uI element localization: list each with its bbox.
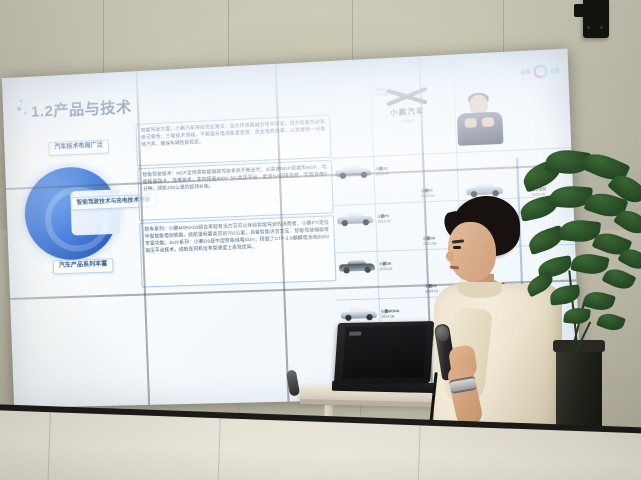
- car-label: 小鹏P52021.09: [377, 214, 390, 225]
- ceiling-speaker-icon: [583, 0, 609, 38]
- plant-leaf: [563, 307, 591, 326]
- thinkpad-laptop[interactable]: [332, 322, 442, 394]
- brand-subtitle: XPENG: [376, 118, 440, 125]
- car-label: 小鹏MONA2024.08: [381, 309, 400, 320]
- car-thumbnail: [339, 259, 375, 274]
- slide-text-block-product-series: 轿车系列：小鹏MONA03迎合年轻有活力又可以体验智能驾驶的消费者，小鹏P7i定…: [139, 215, 336, 287]
- plant-leaf: [602, 264, 637, 293]
- founder-caption-line1: 创始人: [377, 87, 389, 92]
- car-thumbnail: [337, 212, 373, 227]
- slide-title: 1.2产品与技术: [31, 96, 132, 122]
- founder-portrait-icon: [456, 94, 503, 146]
- laptop-brand-mark: [349, 332, 361, 336]
- swirl-ribbon-icon: [533, 64, 548, 78]
- sidebar-label-product-series: 汽车产品系列丰富: [53, 258, 114, 274]
- plant-stem: [568, 270, 578, 342]
- founder-caption: 创始人 何小鹏: [377, 87, 389, 99]
- sidebar-label-tech-layout: 汽车技术布局广泛: [48, 139, 109, 155]
- corporate-logo: 浙商 证券: [520, 64, 560, 80]
- car-date: 2023.06: [379, 267, 392, 272]
- car-thumbnail: [341, 307, 377, 321]
- conference-room-scene: ✦✦✦ 1.2产品与技术 汽车技术布局广泛 智能驾驶技术与充电技术突破 汽车产品…: [0, 0, 641, 480]
- brand-name: 小鹏汽车: [375, 105, 439, 118]
- corp-logo-right-text: 证券: [549, 67, 559, 74]
- slide-text-block-adas-charging: 智能驾驶技术：NGP全场景智能辅助驾驶系统不断迭代，从高速NGP到城市NGP，功…: [137, 160, 334, 221]
- blue-circle-graphic: [23, 165, 119, 261]
- corp-logo-left-text: 浙商: [520, 69, 531, 76]
- slide-text-block-tech-layout: 智能驾驶方面，小鹏汽车持续优化算法，加大传感器融合技术研发，提升智能驾驶系统可靠…: [135, 115, 331, 167]
- founder-caption-line2: 何小鹏: [377, 92, 389, 97]
- car-date: 2024.08: [381, 315, 394, 320]
- car-label: 小鹏G62023.06: [379, 262, 392, 273]
- plant-leaf: [596, 310, 626, 334]
- car-date: 2021.09: [377, 220, 390, 225]
- plant-leaf: [549, 284, 581, 305]
